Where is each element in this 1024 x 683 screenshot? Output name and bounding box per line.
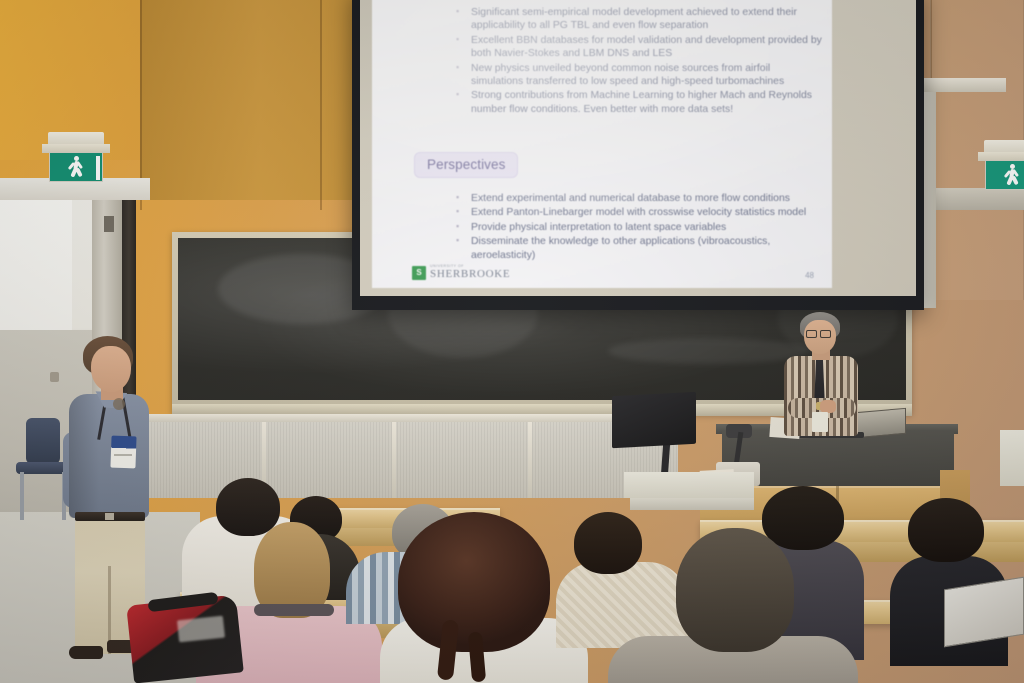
bench-desk-rear bbox=[1000, 430, 1024, 486]
name-badge bbox=[812, 412, 828, 432]
slide-page-number: 48 bbox=[805, 271, 814, 280]
bullet-item: Excellent BBN databases for model valida… bbox=[454, 34, 822, 61]
audience-head bbox=[398, 512, 550, 652]
eyeglasses-on-cord bbox=[113, 398, 125, 410]
exit-sign-face bbox=[49, 152, 103, 182]
slide-footer: S UNIVERSITY OF SHERBROOKE 48 bbox=[412, 265, 814, 280]
exit-sign-left bbox=[42, 132, 112, 184]
panel-divider bbox=[392, 420, 396, 498]
bullet-item: Extend Panton-Linebarger model with cros… bbox=[454, 206, 822, 219]
speaker-at-lectern bbox=[780, 312, 872, 442]
face bbox=[91, 346, 131, 392]
logo-wordmark: SHERBROOKE bbox=[430, 269, 510, 280]
badge-name-line bbox=[114, 454, 132, 456]
chair-leg bbox=[20, 472, 24, 520]
exit-door-bar-icon bbox=[96, 156, 100, 180]
door-panel bbox=[0, 196, 72, 336]
running-person-icon bbox=[1004, 164, 1020, 186]
sherbrooke-logo-mark: S bbox=[412, 266, 426, 280]
bullet-item: Strong contributions from Machine Learni… bbox=[454, 89, 822, 116]
exit-sign-right bbox=[978, 140, 1024, 192]
bullet-item: Provide physical interpretation to laten… bbox=[454, 221, 822, 234]
bullet-item: Disseminate the knowledge to other appli… bbox=[454, 235, 822, 262]
slide-heading-perspectives: Perspectives bbox=[414, 152, 518, 178]
audience-head bbox=[216, 478, 280, 536]
running-person-icon bbox=[68, 156, 84, 178]
bench-desk-rear bbox=[624, 472, 754, 498]
perspectives-bullet-list: Extend experimental and numerical databa… bbox=[454, 192, 822, 263]
bench-front-rear bbox=[630, 498, 754, 510]
conference-name-badge bbox=[110, 436, 136, 469]
audience-head bbox=[762, 486, 844, 550]
belt-buckle bbox=[105, 513, 114, 520]
shirt-shading bbox=[69, 394, 99, 518]
glasses-lens bbox=[806, 330, 817, 338]
collar bbox=[254, 604, 334, 616]
glasses-lens bbox=[820, 330, 831, 338]
confidence-monitor[interactable] bbox=[612, 392, 696, 448]
bullet-item: Extend experimental and numerical databa… bbox=[454, 192, 822, 205]
door-hinge bbox=[104, 216, 114, 232]
projected-slide: Achievements Significant semi-empirical … bbox=[372, 0, 832, 288]
audience-head bbox=[574, 512, 642, 574]
achievements-bullet-list: Significant semi-empirical model develop… bbox=[454, 6, 822, 117]
panel-top-trim bbox=[118, 414, 678, 422]
shoe bbox=[69, 646, 103, 659]
bullet-item: New physics unveiled beyond common noise… bbox=[454, 62, 822, 89]
panel-divider bbox=[528, 420, 532, 498]
university-logo: S UNIVERSITY OF SHERBROOKE bbox=[412, 265, 510, 280]
acoustic-wall-panel bbox=[118, 420, 678, 498]
bullet-item: Significant semi-empirical model develop… bbox=[454, 6, 822, 33]
audience-head bbox=[676, 528, 794, 652]
lecture-hall-photo: Achievements Significant semi-empirical … bbox=[0, 0, 1024, 683]
wall-seam bbox=[320, 0, 322, 210]
audience-head bbox=[908, 498, 984, 562]
slide-content: Achievements Significant semi-empirical … bbox=[372, 0, 832, 288]
exit-sign-face bbox=[985, 160, 1024, 190]
